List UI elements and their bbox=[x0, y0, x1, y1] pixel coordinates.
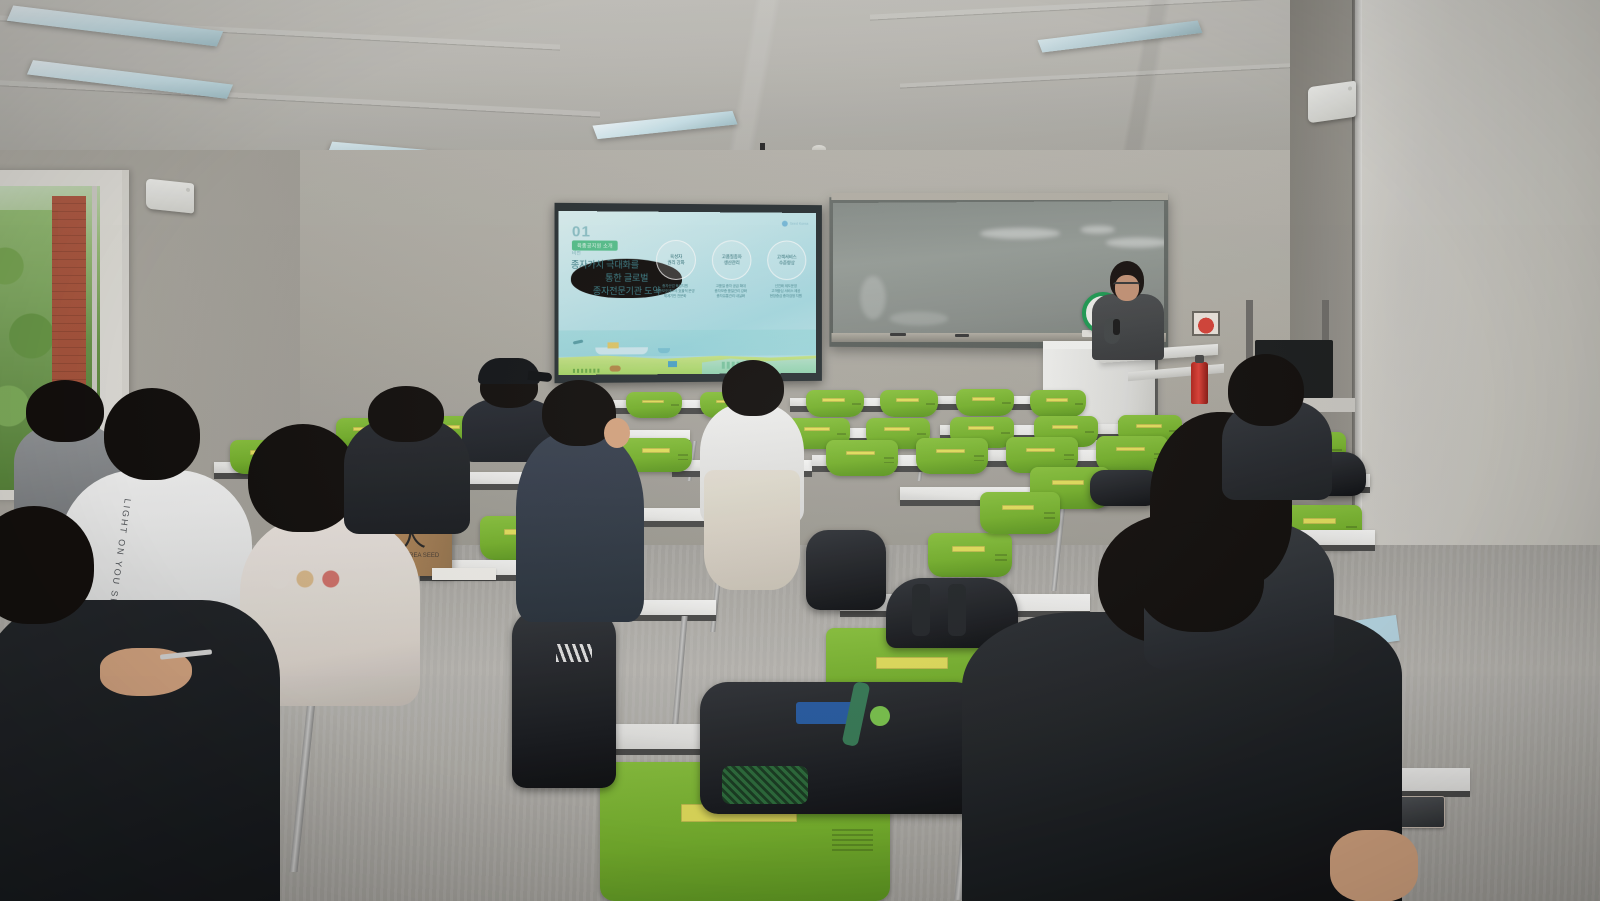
backpack-mesh-pocket bbox=[722, 766, 808, 804]
classroom-photo: 01 육종공지원 소개 비전 종자가치 극대화를 통한 글로벌 종자전문기관 도… bbox=[0, 0, 1600, 901]
whiteboard-smudge bbox=[980, 228, 1060, 239]
student-white-tee-head bbox=[104, 388, 200, 480]
backpack-strap bbox=[948, 584, 966, 636]
chair bbox=[880, 390, 938, 417]
ship-cabin-icon bbox=[608, 342, 619, 348]
slide-circle-3-label: 고객서비스수준향상 bbox=[777, 254, 797, 266]
paper-sheet bbox=[432, 568, 496, 580]
slide-illustration bbox=[559, 330, 816, 376]
backpack-strap bbox=[912, 584, 930, 636]
student-black-jacket-body bbox=[0, 600, 280, 901]
jacket-on-chair bbox=[704, 470, 800, 590]
student-white-tshirt-head bbox=[722, 360, 784, 416]
student-right-rear-head bbox=[1228, 354, 1304, 426]
chair bbox=[928, 533, 1012, 577]
backpack bbox=[806, 530, 886, 610]
slide-logo: Seed Korea bbox=[782, 221, 808, 227]
ship-icon bbox=[595, 347, 648, 354]
slide-circle-2: 고품질종자생산관리 bbox=[712, 240, 752, 280]
wall-speaker-icon bbox=[1308, 81, 1356, 124]
slide-eyebrow: 비전 bbox=[572, 251, 581, 257]
whiteboard-smudge bbox=[890, 312, 949, 326]
chair bbox=[626, 392, 682, 418]
chair bbox=[956, 389, 1014, 416]
boat-icon bbox=[658, 348, 670, 353]
glasses-icon bbox=[1113, 282, 1140, 290]
marker-icon bbox=[955, 334, 969, 337]
slide-number: 01 bbox=[572, 223, 591, 240]
projected-slide: 01 육종공지원 소개 비전 종자가치 극대화를 통한 글로벌 종자전문기관 도… bbox=[559, 211, 816, 375]
chair bbox=[1030, 390, 1086, 417]
brand-stripes-icon bbox=[556, 644, 592, 662]
presenter-body bbox=[1092, 294, 1164, 360]
slide-circle-3-body: 선진화 제도운영 고객중심 서비스 제공 현장중심 종자검정 지원 bbox=[756, 284, 815, 299]
microphone-icon bbox=[1113, 319, 1120, 335]
fire-extinguisher bbox=[1191, 362, 1208, 404]
slide-circle-1-label: 육성자권리 강화 bbox=[667, 254, 684, 266]
backpack bbox=[512, 610, 616, 788]
whiteboard-smudge bbox=[1106, 237, 1164, 247]
framed-picture bbox=[1192, 311, 1220, 336]
slide-circle-1-body: 종자산업 육성지원 품종보호제도의 효율적 운영 체계기반 전문화 bbox=[645, 284, 705, 299]
chair bbox=[916, 438, 988, 474]
keychain-icon bbox=[870, 706, 890, 726]
student-foreground-head bbox=[1136, 522, 1264, 632]
chair bbox=[806, 390, 864, 417]
student-mid-back-head bbox=[368, 386, 444, 442]
chair bbox=[980, 492, 1060, 534]
cow-icon bbox=[610, 365, 621, 371]
slide-circle-2-body: 고품질 종자 공급 확대 종자보증 품질관리 강화 종자유통관리 내실화 bbox=[701, 284, 760, 299]
backpack bbox=[700, 682, 990, 814]
student-snoopy-head bbox=[248, 424, 358, 532]
wall-speaker-icon bbox=[146, 178, 194, 213]
student-arm bbox=[1330, 830, 1418, 901]
whiteboard-top-rail bbox=[831, 193, 1168, 200]
slide-circle-2-label: 고품질종자생산관리 bbox=[722, 254, 742, 266]
slide-circle-3: 고객서비스수준향상 bbox=[767, 240, 806, 280]
student-hand bbox=[604, 418, 630, 448]
slide-circle-1: 육성자권리 강화 bbox=[656, 240, 696, 280]
student-gray-shirt-head bbox=[26, 380, 104, 442]
chair bbox=[826, 440, 898, 476]
marker-icon bbox=[890, 333, 906, 336]
whiteboard-smudge bbox=[1080, 226, 1115, 234]
student-navy-body bbox=[516, 432, 644, 622]
truck-icon bbox=[668, 361, 677, 367]
slide-tag-pill: 육종공지원 소개 bbox=[572, 240, 618, 250]
cartoon-print-icon bbox=[262, 566, 348, 592]
whiteboard-smudge bbox=[860, 276, 885, 320]
crop-field-icon bbox=[573, 369, 599, 373]
